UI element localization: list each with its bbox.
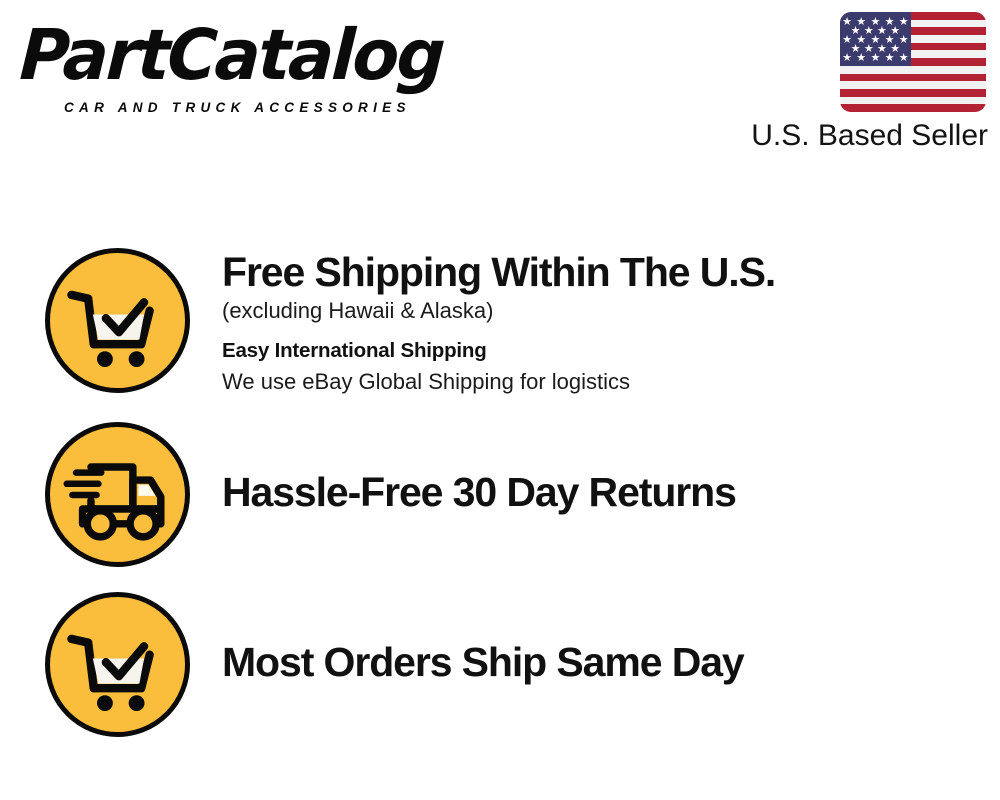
brand-wordmark: PartCatalog [18, 18, 507, 92]
delivery-truck-icon [45, 422, 190, 567]
promo-banner: PartCatalog CAR AND TRUCK ACCESSORIES ★★… [0, 0, 1000, 800]
feature-title: Hassle-Free 30 Day Returns [222, 468, 992, 516]
feature-subheading: Easy International Shipping [222, 336, 992, 366]
flag-stripe [840, 104, 986, 112]
feature-subtitle: (excluding Hawaii & Alaska) [222, 296, 992, 326]
flag-canton: ★★★★★ ★★★★ ★★★★★ ★★★★ ★★★★★ [840, 12, 911, 66]
feature-text: Free Shipping Within The U.S. (excluding… [222, 248, 992, 397]
shopping-cart-check-icon [45, 248, 190, 393]
us-flag-icon: ★★★★★ ★★★★ ★★★★★ ★★★★ ★★★★★ [840, 12, 986, 112]
feature-row: Free Shipping Within The U.S. (excluding… [0, 248, 1000, 408]
flag-graphic: ★★★★★ ★★★★ ★★★★★ ★★★★ ★★★★★ [840, 12, 986, 112]
us-based-seller-label: U.S. Based Seller [726, 118, 988, 154]
feature-text: Hassle-Free 30 Day Returns [222, 422, 992, 516]
feature-text: Most Orders Ship Same Day [222, 592, 992, 686]
flag-stripe [840, 89, 986, 97]
feature-row: Hassle-Free 30 Day Returns [0, 422, 1000, 568]
feature-title: Most Orders Ship Same Day [222, 638, 992, 686]
feature-title: Free Shipping Within The U.S. [222, 248, 992, 296]
feature-subtext: We use eBay Global Shipping for logistic… [222, 366, 992, 397]
feature-row: Most Orders Ship Same Day [0, 592, 1000, 738]
flag-stripe [840, 74, 986, 82]
flag-star-row: ★★★★★ [840, 53, 911, 64]
shopping-cart-check-icon [45, 592, 190, 737]
brand-logo: PartCatalog CAR AND TRUCK ACCESSORIES [22, 18, 522, 123]
brand-tagline: CAR AND TRUCK ACCESSORIES [64, 100, 411, 116]
